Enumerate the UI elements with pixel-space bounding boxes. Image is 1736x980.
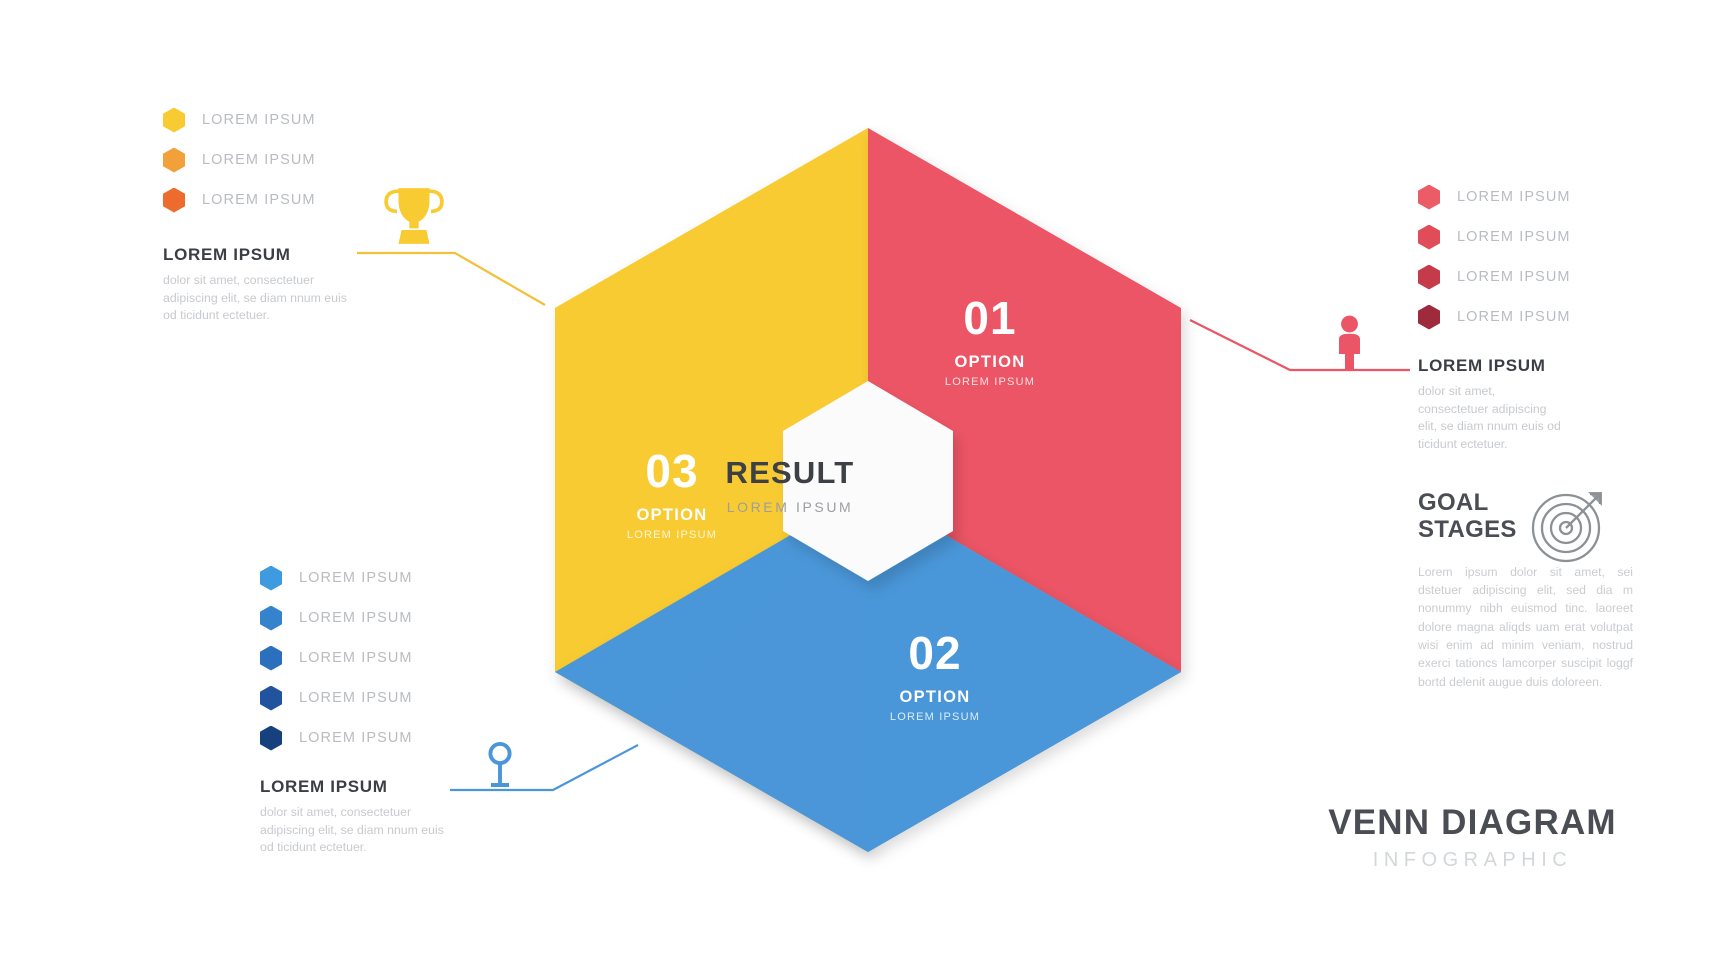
legend-item[interactable]: LOREM IPSUM xyxy=(1418,257,1571,297)
callout-red: LOREM IPSUM dolor sit amet, consectetuer… xyxy=(1418,356,1566,453)
legend-item[interactable]: LOREM IPSUM xyxy=(163,100,316,140)
hexagon-bullet-icon xyxy=(1418,265,1440,290)
legend-item[interactable]: LOREM IPSUM xyxy=(163,180,316,220)
hexagon-bullet-icon xyxy=(260,606,282,631)
pin-icon xyxy=(490,744,509,785)
trophy-icon xyxy=(386,188,442,244)
legend-yellow: LOREM IPSUM LOREM IPSUM LOREM IPSUM xyxy=(163,100,316,220)
callout-body: dolor sit amet, consectetuer adipiscing … xyxy=(163,272,363,325)
goal-stages-title-line1: GOAL xyxy=(1418,490,1517,517)
legend-item-label: LOREM IPSUM xyxy=(202,192,316,208)
legend-item-label: LOREM IPSUM xyxy=(299,570,413,586)
page-subtitle: INFOGRAPHIC xyxy=(1310,849,1635,872)
hexagon-bullet-icon xyxy=(163,108,185,133)
callout-body: dolor sit amet, consectetuer adipiscing … xyxy=(260,804,460,857)
connector-line-yellow xyxy=(357,253,545,305)
legend-item-label: LOREM IPSUM xyxy=(1457,269,1571,285)
legend-item[interactable]: LOREM IPSUM xyxy=(1418,177,1571,217)
legend-item[interactable]: LOREM IPSUM xyxy=(260,718,413,758)
legend-item-label: LOREM IPSUM xyxy=(202,112,316,128)
callout-title: LOREM IPSUM xyxy=(260,777,460,797)
hexagon-bullet-icon xyxy=(1418,225,1440,250)
legend-item[interactable]: LOREM IPSUM xyxy=(1418,297,1571,337)
callout-title: LOREM IPSUM xyxy=(163,245,363,265)
legend-item[interactable]: LOREM IPSUM xyxy=(260,638,413,678)
person-icon xyxy=(1339,316,1360,369)
hexagon-bullet-icon xyxy=(163,188,185,213)
hexagon-bullet-icon xyxy=(260,566,282,591)
legend-item[interactable]: LOREM IPSUM xyxy=(260,598,413,638)
hexagon-bullet-icon xyxy=(1418,185,1440,210)
page-title: VENN DIAGRAM xyxy=(1310,805,1635,842)
hexagon-bullet-icon xyxy=(163,148,185,173)
legend-item-label: LOREM IPSUM xyxy=(299,610,413,626)
connector-line-red xyxy=(1190,320,1410,370)
legend-item-label: LOREM IPSUM xyxy=(1457,309,1571,325)
hexagon-bullet-icon xyxy=(260,726,282,751)
goal-stages-title-line2: STAGES xyxy=(1418,517,1517,544)
legend-item-label: LOREM IPSUM xyxy=(202,152,316,168)
legend-item-label: LOREM IPSUM xyxy=(1457,229,1571,245)
hexagon-bullet-icon xyxy=(260,686,282,711)
callout-yellow: LOREM IPSUM dolor sit amet, consectetuer… xyxy=(163,245,363,325)
callout-title: LOREM IPSUM xyxy=(1418,356,1566,376)
legend-item-label: LOREM IPSUM xyxy=(299,690,413,706)
infographic-canvas: 01 OPTION LOREM IPSUM 02 OPTION LOREM IP… xyxy=(0,0,1736,980)
legend-item-label: LOREM IPSUM xyxy=(1457,189,1571,205)
goal-stages-header: GOAL STAGES xyxy=(1418,490,1633,544)
callout-body: dolor sit amet, consectetuer adipiscing … xyxy=(1418,383,1566,453)
legend-item[interactable]: LOREM IPSUM xyxy=(163,140,316,180)
hexagon-bullet-icon xyxy=(260,646,282,671)
goal-stages-block: GOAL STAGES Lorem ipsum dolor sit amet, … xyxy=(1418,490,1633,691)
legend-item[interactable]: LOREM IPSUM xyxy=(1418,217,1571,257)
legend-item-label: LOREM IPSUM xyxy=(299,730,413,746)
connector-line-blue xyxy=(450,745,638,790)
goal-stages-body: Lorem ipsum dolor sit amet, sei dstetuer… xyxy=(1418,563,1633,691)
legend-red: LOREM IPSUM LOREM IPSUM LOREM IPSUM LORE… xyxy=(1418,177,1571,337)
callout-blue: LOREM IPSUM dolor sit amet, consectetuer… xyxy=(260,777,460,857)
legend-item[interactable]: LOREM IPSUM xyxy=(260,558,413,598)
legend-item-label: LOREM IPSUM xyxy=(299,650,413,666)
legend-blue: LOREM IPSUM LOREM IPSUM LOREM IPSUM LORE… xyxy=(260,558,413,758)
hexagon-bullet-icon xyxy=(1418,305,1440,330)
legend-item[interactable]: LOREM IPSUM xyxy=(260,678,413,718)
goal-stages-title: GOAL STAGES xyxy=(1418,490,1517,544)
footer-title-block: VENN DIAGRAM INFOGRAPHIC xyxy=(1310,805,1635,872)
